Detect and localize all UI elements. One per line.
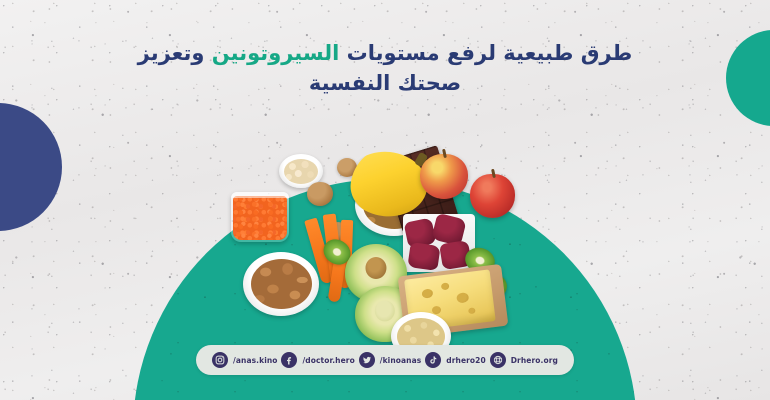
cheese-hole	[421, 288, 433, 298]
macadamia-nuts	[284, 159, 318, 184]
social-item-tiktok[interactable]: drhero20	[425, 352, 486, 368]
social-item-instagram[interactable]: /anas.kino	[212, 352, 278, 368]
social-handle-tiktok: drhero20	[446, 356, 486, 365]
social-item-facebook[interactable]: /doctor.hero	[281, 352, 354, 368]
cheese-hole	[441, 282, 450, 290]
social-item-twitter[interactable]: /kinoanas	[359, 352, 422, 368]
beetroot-chunk	[407, 242, 440, 271]
avocado-pit	[365, 257, 386, 279]
beetroot-chunks-tray	[403, 214, 475, 272]
facebook-icon[interactable]	[281, 352, 297, 368]
headline-line-2: صحتك النفسية	[0, 68, 770, 98]
jar-rim	[231, 192, 289, 198]
red-caviar-jar	[231, 192, 289, 242]
website-globe-icon[interactable]	[490, 352, 506, 368]
instagram-icon[interactable]	[212, 352, 228, 368]
headline-highlight-word: السيروتونين	[212, 41, 340, 65]
almonds	[251, 259, 312, 309]
apple-stem	[491, 169, 495, 178]
apple	[470, 174, 515, 218]
poster-canvas: طرق طبيعية لرفع مستويات السيروتونين وتعز…	[0, 0, 770, 400]
social-item-website[interactable]: Drhero.org	[490, 352, 558, 368]
social-handle-instagram: /anas.kino	[233, 356, 278, 365]
headline-text-before: طرق طبيعية لرفع مستويات	[339, 41, 632, 65]
tiktok-icon[interactable]	[425, 352, 441, 368]
apple	[420, 154, 468, 199]
banana	[348, 144, 433, 222]
avocado-hollow	[375, 300, 395, 321]
caviar-roe	[233, 196, 287, 240]
social-handle-website: Drhero.org	[511, 356, 558, 365]
social-media-bar: /anas.kino /doctor.hero /kinoanas	[196, 345, 574, 375]
walnut-whole	[307, 182, 333, 206]
social-handle-twitter: /kinoanas	[380, 356, 422, 365]
food-platter	[215, 152, 545, 347]
cheese-hole	[456, 292, 469, 303]
cheese-hole	[468, 307, 476, 314]
headline-text-after: وتعزيز	[138, 41, 212, 65]
twitter-icon[interactable]	[359, 352, 375, 368]
social-handle-facebook: /doctor.hero	[302, 356, 354, 365]
headline-line-1: طرق طبيعية لرفع مستويات السيروتونين وتعز…	[0, 38, 770, 68]
headline: طرق طبيعية لرفع مستويات السيروتونين وتعز…	[0, 38, 770, 98]
